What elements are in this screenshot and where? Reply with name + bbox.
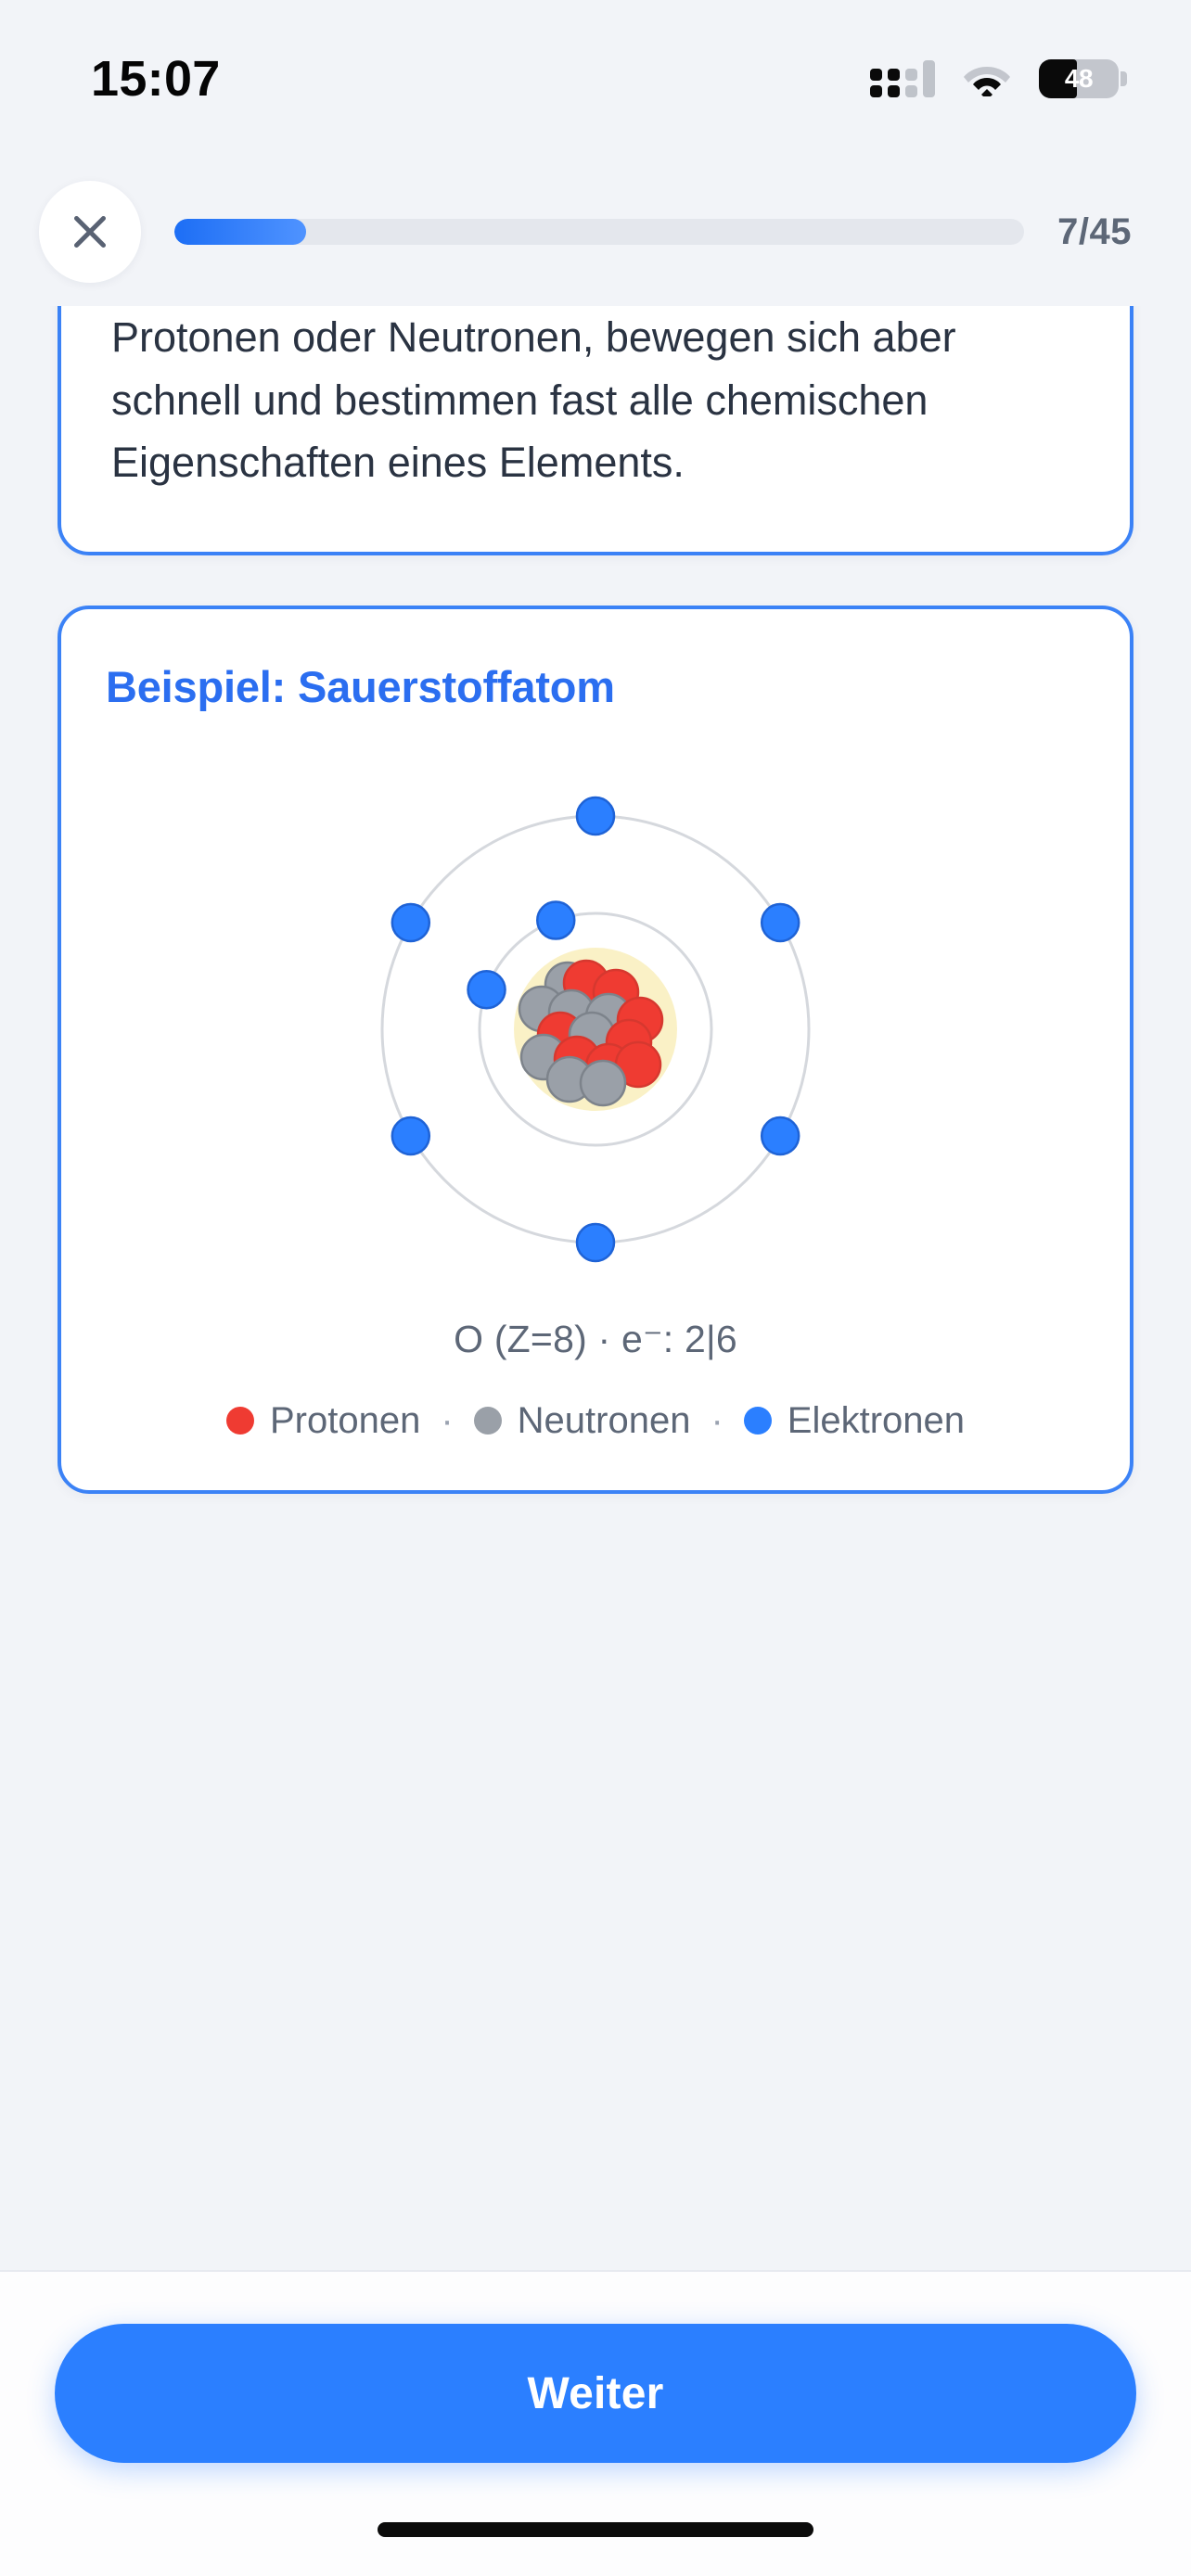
atom-diagram [106,749,1085,1296]
neutron-dot-icon [474,1407,502,1435]
status-icons: 48 [870,59,1119,98]
close-icon [68,210,112,254]
electron-particle [762,904,799,941]
explanation-paragraph: Protonen oder Neutronen, bewegen sich ab… [111,306,1080,494]
electron-particle [537,901,574,938]
status-time: 15:07 [91,50,221,108]
legend-label: Protonen [270,1400,420,1442]
legend-item: Neutronen [474,1400,691,1442]
atom-legend: Protonen·Neutronen·Elektronen [106,1400,1085,1442]
wifi-icon [963,61,1011,96]
legend-separator: · [437,1400,456,1442]
neutron-particle [581,1061,625,1105]
legend-label: Neutronen [518,1400,691,1442]
progress-bar [174,219,1024,245]
status-bar: 15:07 48 [0,0,1191,158]
explanation-card: Protonen oder Neutronen, bewegen sich ab… [58,306,1133,555]
proton-dot-icon [226,1407,254,1435]
electron-dot-icon [744,1407,772,1435]
electron-particle [392,904,429,941]
footer-bar: Weiter [0,2270,1191,2576]
lesson-content-scroll[interactable]: Protonen oder Neutronen, bewegen sich ab… [0,306,1191,2270]
battery-icon: 48 [1039,59,1119,98]
app-screen: 15:07 48 [0,0,1191,2576]
example-card: Beispiel: Sauerstoffatom O (Z=8) · e⁻: 2… [58,606,1133,1494]
progress-bar-fill [174,219,306,245]
electron-particle [392,1117,429,1154]
legend-label: Elektronen [788,1400,965,1442]
continue-button[interactable]: Weiter [55,2324,1136,2463]
atom-bohr-model-svg [336,770,855,1289]
legend-item: Protonen [226,1400,420,1442]
example-card-title: Beispiel: Sauerstoffatom [106,661,1085,712]
electron-particle [762,1117,799,1154]
lesson-header: 7/45 [0,158,1191,306]
electron-particle [468,971,506,1008]
legend-separator: · [707,1400,726,1442]
home-indicator [378,2522,813,2537]
electron-particle [577,797,614,835]
progress-label: 7/45 [1057,211,1132,253]
atom-caption: O (Z=8) · e⁻: 2|6 [106,1317,1085,1361]
cellular-signal-icon [870,60,935,97]
legend-item: Elektronen [744,1400,965,1442]
close-button[interactable] [39,181,141,283]
electron-particle [577,1224,614,1261]
battery-percent-label: 48 [1039,64,1119,94]
